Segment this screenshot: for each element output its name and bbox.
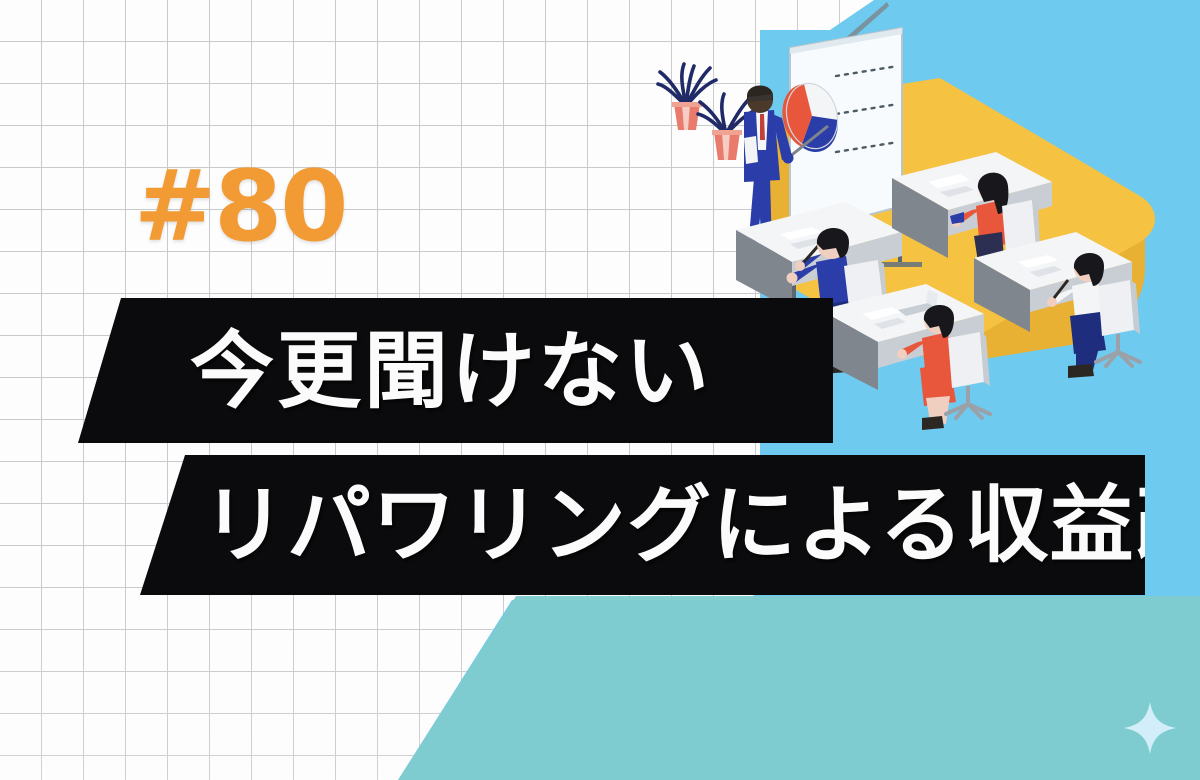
sparkle-icon (1122, 700, 1178, 756)
slide-canvas: #80 今更聞けない リパワリングによる収益改善 (0, 0, 1200, 780)
title-line-1-text: 今更聞けない (190, 329, 712, 413)
title-line-2-text: リパワリングによる収益改善 (202, 483, 1200, 567)
title-banner-line-1: 今更聞けない (78, 298, 833, 443)
episode-number: #80 (134, 158, 347, 256)
title-banner-line-2: リパワリングによる収益改善 (140, 455, 1145, 595)
